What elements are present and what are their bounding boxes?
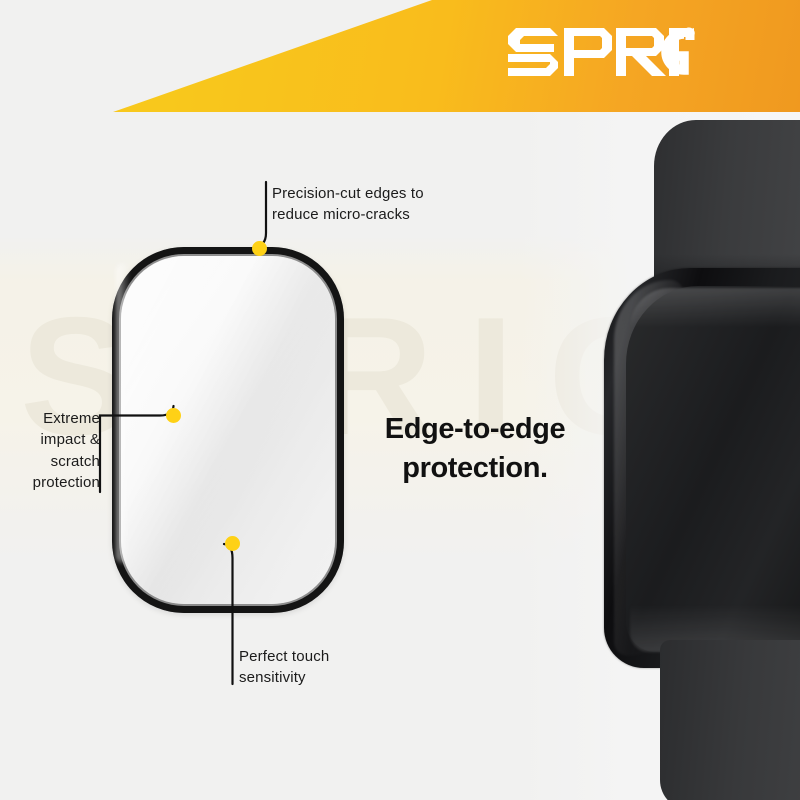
protector-body: [112, 247, 344, 613]
headline: Edge-to-edge protection.: [360, 410, 590, 487]
callout-text-perfect-touch: Perfect touch sensitivity: [239, 646, 329, 689]
watch-band-bottom: [660, 640, 800, 800]
headline-line-2: protection.: [360, 449, 590, 488]
screen-protector-film: [112, 247, 344, 613]
callout-dot-precision-cut: [252, 241, 267, 256]
callout-text-extreme-impact: Extreme impact & scratch protection: [4, 408, 100, 493]
sprig-logo: [506, 26, 696, 78]
watch-band-top: [654, 120, 800, 290]
callout-dot-extreme-impact: [166, 408, 181, 423]
watch-screen-highlight-top: [630, 288, 800, 328]
smartwatch-device: [596, 120, 800, 800]
product-marketing-image: SPRIG: [0, 0, 800, 800]
callout-text-precision-cut: Precision-cut edges to reduce micro-crac…: [272, 183, 424, 226]
watch-screen: [626, 286, 800, 652]
sprig-logo-icon: [506, 26, 696, 78]
callout-dot-perfect-touch: [225, 536, 240, 551]
headline-line-1: Edge-to-edge: [360, 410, 590, 449]
